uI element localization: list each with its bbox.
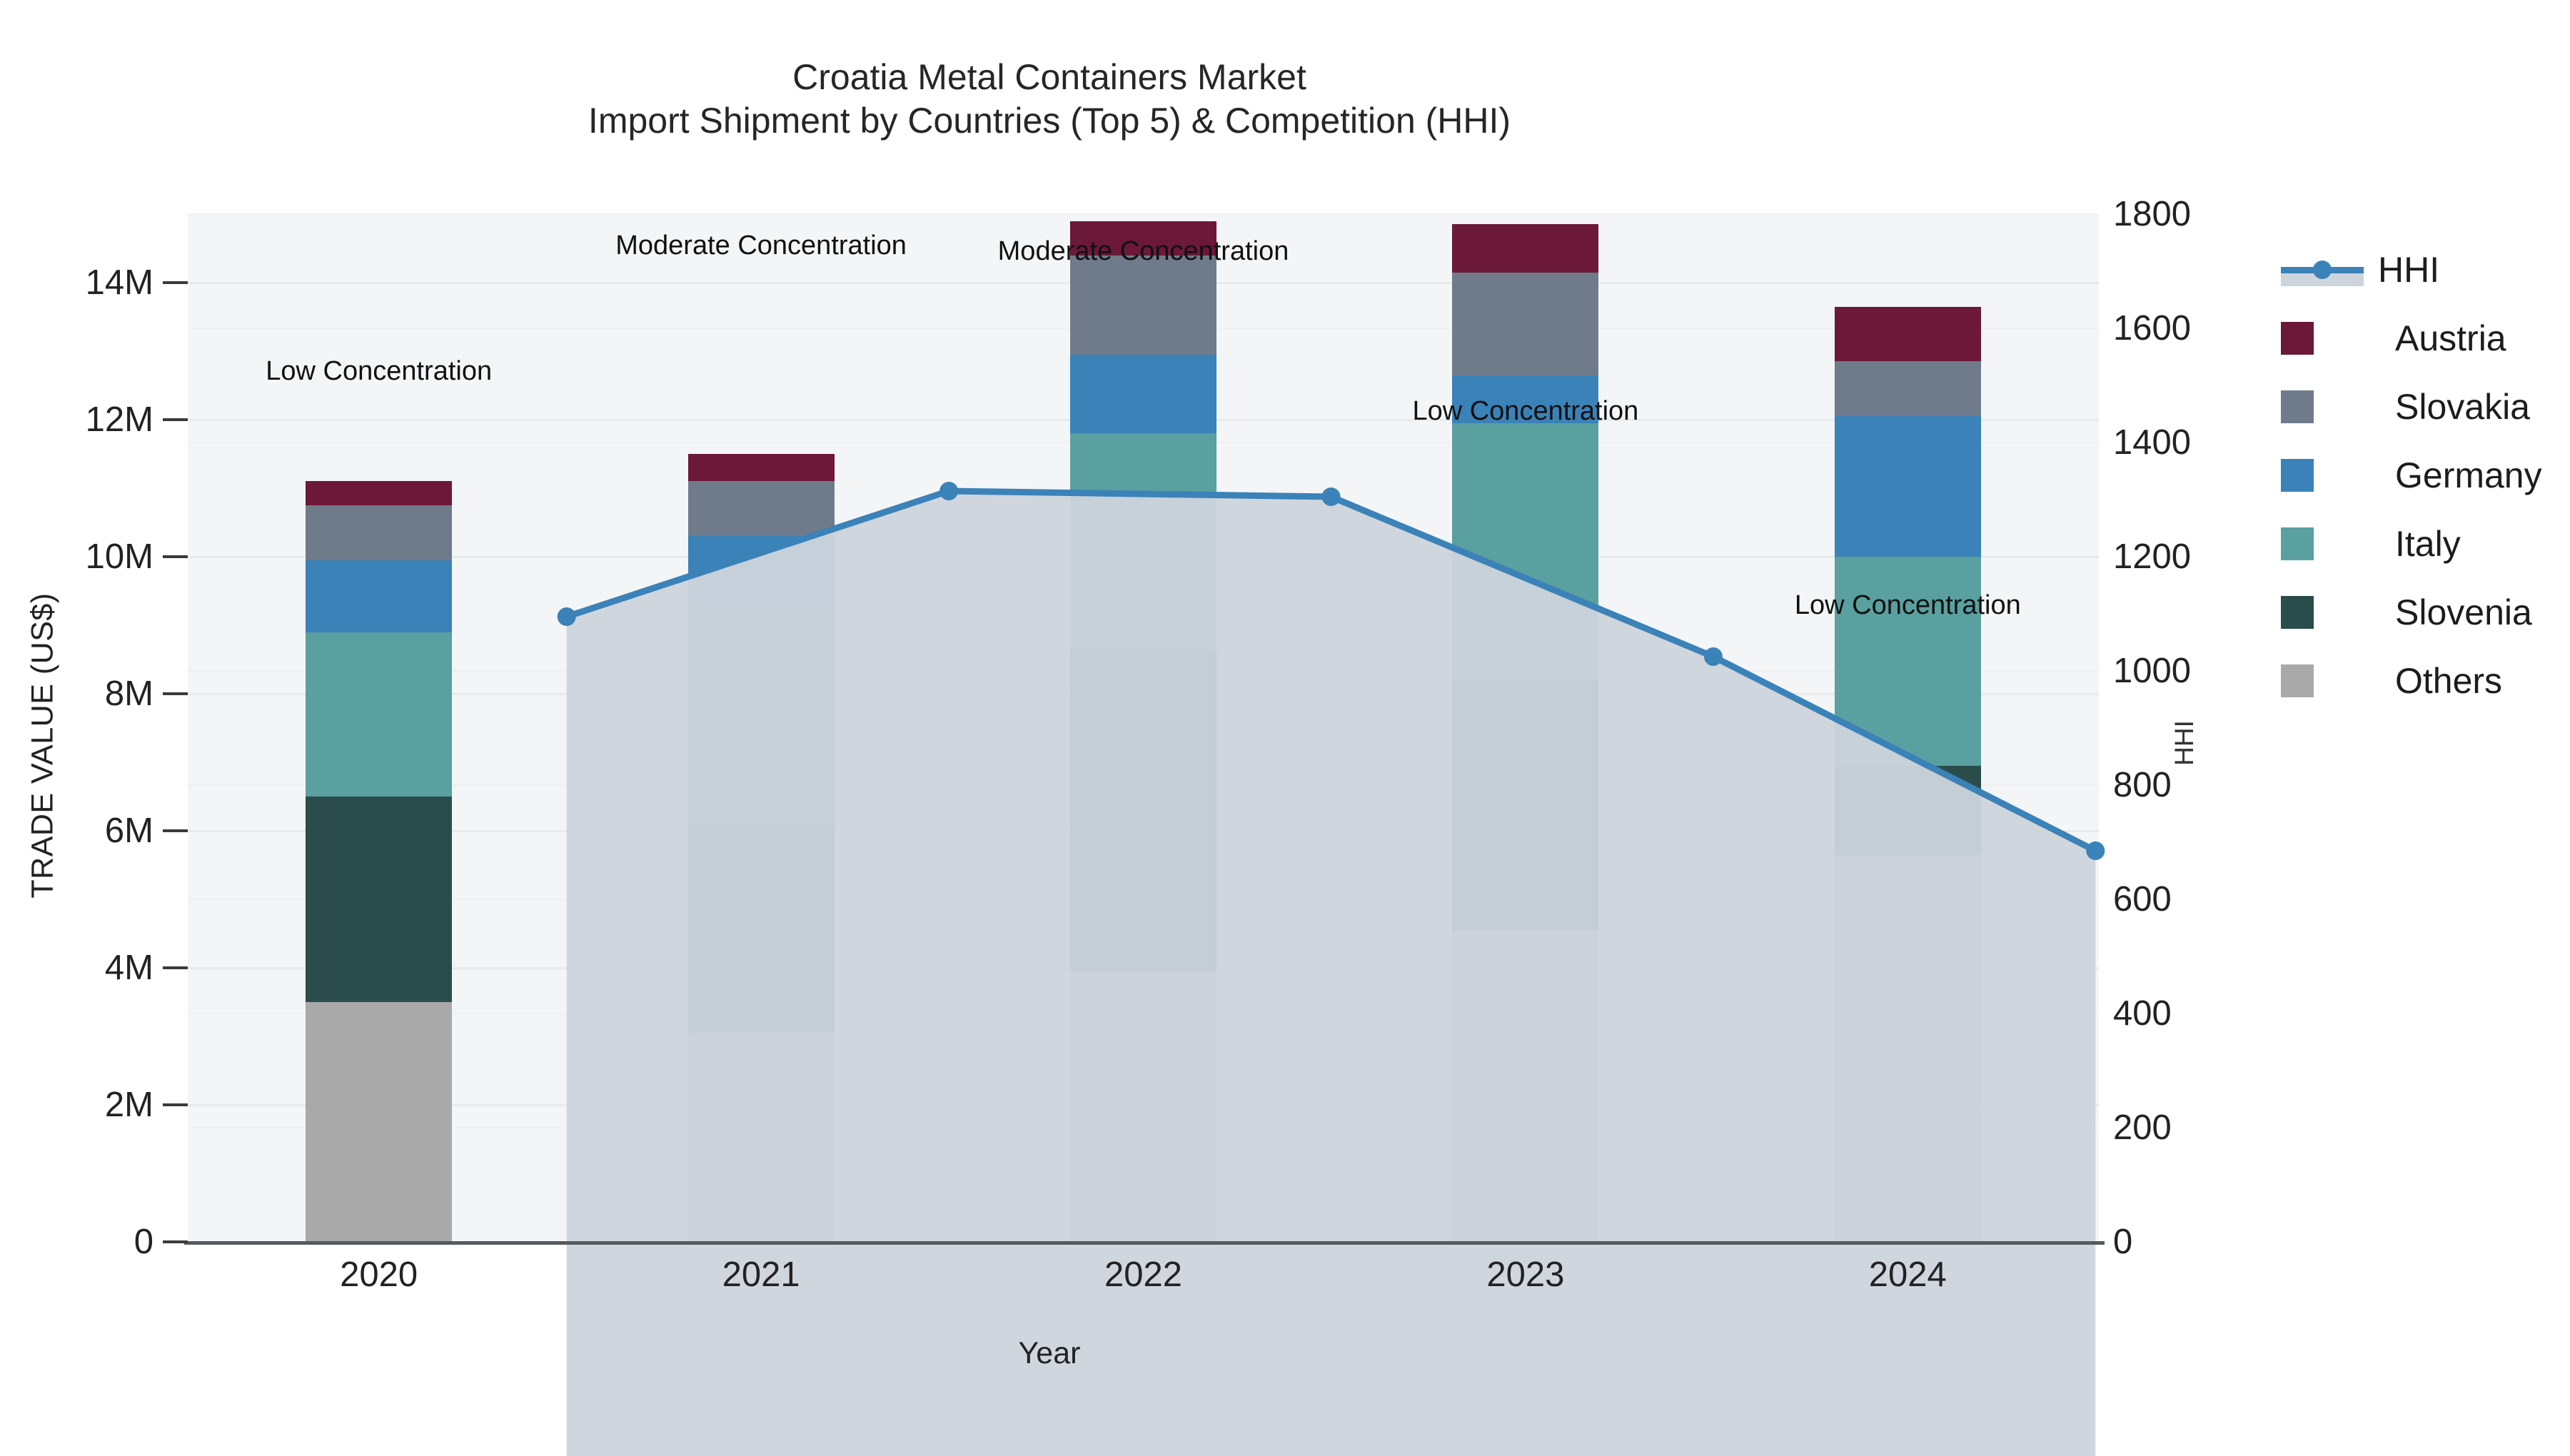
y-axis-tick-mark	[163, 829, 188, 832]
legend: HHIAustriaSlovakiaGermanyItalySloveniaOt…	[2281, 236, 2566, 715]
y-axis-tick-mark	[163, 692, 188, 695]
line-marker-icon	[2281, 253, 2364, 286]
y-axis-right-tick-label: 0	[2113, 1222, 2277, 1262]
legend-item-italy[interactable]: Italy	[2281, 510, 2566, 578]
legend-item-label: Germany	[2395, 455, 2542, 496]
title-line-2: Import Shipment by Countries (Top 5) & C…	[0, 99, 2099, 143]
title-line-1: Croatia Metal Containers Market	[0, 56, 2099, 99]
y-axis-tick-mark	[163, 1103, 188, 1106]
color-swatch-icon	[2281, 390, 2314, 423]
y-axis-tick-mark	[163, 281, 188, 284]
hhi-data-point[interactable]	[1704, 647, 1723, 666]
bar-segment[interactable]	[1452, 224, 1598, 272]
page-title: Croatia Metal Containers Market Import S…	[0, 56, 2099, 143]
y-axis-right-tick-label: 1600	[2113, 308, 2277, 348]
concentration-annotation: Low Concentration	[1795, 590, 2021, 621]
y-axis-left-tick-label: 10M	[0, 537, 153, 577]
hhi-data-point[interactable]	[2086, 841, 2105, 860]
hhi-line-chart	[376, 428, 2287, 1456]
plot-area: Low ConcentrationModerate ConcentrationM…	[188, 214, 2099, 1242]
legend-item-germany[interactable]: Germany	[2281, 441, 2566, 510]
color-swatch-icon	[2281, 664, 2314, 697]
legend-item-label: Slovenia	[2395, 592, 2532, 633]
bar-segment[interactable]	[1835, 361, 1981, 416]
concentration-annotation: Low Concentration	[266, 356, 492, 387]
legend-item-label: Slovakia	[2395, 386, 2530, 428]
gridline-minor	[188, 213, 2099, 215]
y-axis-right-tick-label: 1400	[2113, 423, 2277, 462]
y-axis-right-tick-label: 1800	[2113, 194, 2277, 234]
y-axis-left-tick-label: 12M	[0, 400, 153, 440]
x-axis-tick-label: 2021	[618, 1255, 904, 1295]
y-axis-left-tick-label: 4M	[0, 948, 153, 988]
legend-item-label: Others	[2395, 660, 2502, 702]
y-axis-left-tick-label: 14M	[0, 263, 153, 303]
x-axis-tick-label: 2023	[1383, 1255, 1668, 1295]
hhi-data-point[interactable]	[1322, 487, 1341, 506]
x-axis-tick-label: 2024	[1765, 1255, 2050, 1295]
legend-item-slovenia[interactable]: Slovenia	[2281, 578, 2566, 647]
legend-item-hhi[interactable]: HHI	[2281, 236, 2566, 304]
legend-item-label: Austria	[2395, 318, 2506, 359]
y-axis-left-tick-label: 0	[0, 1222, 153, 1262]
y-axis-left-title: TRADE VALUE (US$)	[26, 475, 61, 1017]
legend-item-others[interactable]: Others	[2281, 647, 2566, 715]
bar-segment[interactable]	[1070, 256, 1216, 355]
color-swatch-icon	[2281, 459, 2314, 492]
color-swatch-icon	[2281, 596, 2314, 629]
hhi-data-point[interactable]	[939, 482, 958, 500]
color-swatch-icon	[2281, 527, 2314, 560]
y-axis-right-title: HHI	[2170, 636, 2199, 850]
y-axis-right-tick-label: 600	[2113, 879, 2277, 919]
y-axis-right-tick-label: 200	[2113, 1108, 2277, 1148]
y-axis-left-tick-label: 6M	[0, 811, 153, 851]
concentration-annotation: Moderate Concentration	[998, 236, 1289, 267]
legend-item-label: Italy	[2395, 523, 2461, 565]
legend-item-label: HHI	[2378, 249, 2439, 290]
y-axis-right-tick-label: 400	[2113, 994, 2277, 1033]
y-axis-tick-mark	[163, 418, 188, 421]
y-axis-left-tick-label: 2M	[0, 1085, 153, 1125]
y-axis-right-tick-label: 1200	[2113, 537, 2277, 577]
hhi-data-point[interactable]	[558, 607, 576, 626]
concentration-annotation: Moderate Concentration	[615, 231, 907, 261]
x-axis-tick-label: 2022	[1001, 1255, 1286, 1295]
concentration-annotation: Low Concentration	[1412, 396, 1638, 427]
bar-segment[interactable]	[1835, 307, 1981, 362]
color-swatch-icon	[2281, 322, 2314, 355]
bar-segment[interactable]	[1452, 273, 1598, 375]
y-axis-tick-mark	[163, 1240, 188, 1243]
x-axis-tick-label: 2020	[236, 1255, 522, 1295]
y-axis-tick-mark	[163, 555, 188, 558]
legend-item-austria[interactable]: Austria	[2281, 304, 2566, 373]
x-axis-line	[184, 1241, 2105, 1245]
y-axis-tick-mark	[163, 966, 188, 969]
bar-segment[interactable]	[1070, 355, 1216, 433]
y-axis-left-tick-label: 8M	[0, 674, 153, 714]
x-axis-title: Year	[0, 1336, 2099, 1371]
hhi-area-fill	[567, 491, 2096, 1456]
legend-item-slovakia[interactable]: Slovakia	[2281, 373, 2566, 441]
